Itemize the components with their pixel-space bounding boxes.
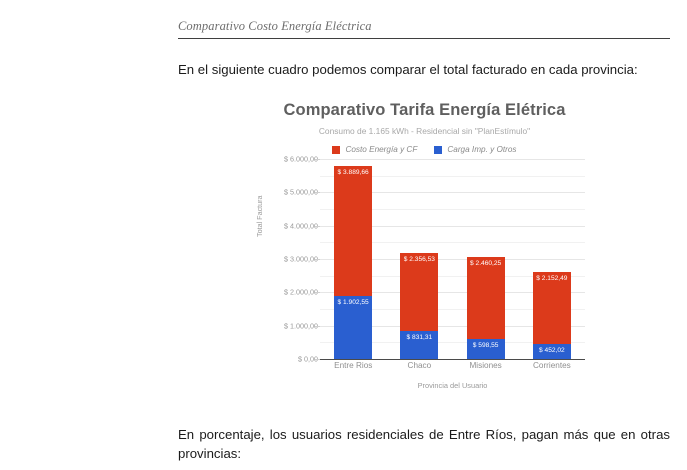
bar-group: $ 2.460,25$ 598,55 bbox=[467, 159, 505, 359]
bar-segment-carga: $ 598,55 bbox=[467, 339, 505, 359]
y-axis-tick-label: $ 2.000,00 bbox=[284, 288, 318, 297]
bar-value-label: $ 1.902,55 bbox=[334, 299, 372, 306]
legend-label-carga: Carga Imp. y Otros bbox=[447, 145, 516, 154]
x-axis-ticks: Entre RiosChacoMisionesCorrientes bbox=[320, 361, 585, 370]
bar-segment-costo: $ 3.889,66 bbox=[334, 166, 372, 296]
x-axis-title: Provincia del Usuario bbox=[320, 381, 585, 390]
chart-title: Comparativo Tarifa Energía Elétrica bbox=[252, 101, 597, 120]
page-left-margin bbox=[0, 0, 81, 470]
paragraph-intro: En el siguiente cuadro podemos comparar … bbox=[178, 60, 670, 79]
y-axis-tick-label: $ 5.000,00 bbox=[284, 188, 318, 197]
bar-segment-costo: $ 2.152,49 bbox=[533, 272, 571, 344]
y-axis-tick-mark bbox=[315, 359, 320, 360]
bar-value-label: $ 2.152,49 bbox=[533, 275, 571, 282]
bar-value-label: $ 2.460,25 bbox=[467, 260, 505, 267]
x-axis-tick-label: Chaco bbox=[400, 361, 438, 370]
legend-label-costo: Costo Energía y CF bbox=[345, 145, 417, 154]
running-head: Comparativo Costo Energía Eléctrica bbox=[178, 19, 670, 39]
plot-canvas: $ 3.889,66$ 1.902,55$ 2.356,53$ 831,31$ … bbox=[320, 159, 585, 359]
y-axis-tick-label: $ 4.000,00 bbox=[284, 221, 318, 230]
paragraph-conclusion: En porcentaje, los usuarios residenciale… bbox=[178, 425, 670, 463]
bar-value-label: $ 831,31 bbox=[400, 334, 438, 341]
bar-segment-costo: $ 2.356,53 bbox=[400, 253, 438, 332]
x-axis-tick-label: Misiones bbox=[467, 361, 505, 370]
y-axis-tick-label: $ 6.000,00 bbox=[284, 155, 318, 164]
bar-segment-carga: $ 1.902,55 bbox=[334, 296, 372, 359]
header-rule bbox=[178, 38, 670, 39]
bar-group: $ 2.152,49$ 452,02 bbox=[533, 159, 571, 359]
bar-segment-costo: $ 2.460,25 bbox=[467, 257, 505, 339]
bar-group: $ 2.356,53$ 831,31 bbox=[400, 159, 438, 359]
legend-swatch-costo bbox=[332, 146, 340, 154]
gridline bbox=[320, 359, 585, 360]
y-axis-tick-label: $ 1.000,00 bbox=[284, 321, 318, 330]
bar-value-label: $ 452,02 bbox=[533, 347, 571, 354]
bar-group: $ 3.889,66$ 1.902,55 bbox=[334, 159, 372, 359]
running-head-text: Comparativo Costo Energía Eléctrica bbox=[178, 19, 670, 34]
bar-segment-carga: $ 831,31 bbox=[400, 331, 438, 359]
bar-series-container: $ 3.889,66$ 1.902,55$ 2.356,53$ 831,31$ … bbox=[320, 159, 585, 359]
x-axis-tick-label: Corrientes bbox=[533, 361, 571, 370]
y-axis-ticks: $ 0,00$ 1.000,00$ 2.000,00$ 3.000,00$ 4.… bbox=[266, 159, 320, 359]
legend-item-costo: Costo Energía y CF bbox=[332, 145, 417, 154]
chart-legend: Costo Energía y CF Carga Imp. y Otros bbox=[252, 145, 597, 154]
bar-segment-carga: $ 452,02 bbox=[533, 344, 571, 359]
bar-value-label: $ 2.356,53 bbox=[400, 256, 438, 263]
y-axis-tick-label: $ 3.000,00 bbox=[284, 255, 318, 264]
legend-item-carga: Carga Imp. y Otros bbox=[434, 145, 516, 154]
bar-chart: Comparativo Tarifa Energía Elétrica Cons… bbox=[252, 96, 597, 408]
document-page: Comparativo Costo Energía Eléctrica En e… bbox=[81, 0, 606, 470]
plot-area: Total Factura $ 0,00$ 1.000,00$ 2.000,00… bbox=[252, 159, 597, 394]
bar-value-label: $ 598,55 bbox=[467, 342, 505, 349]
x-axis-tick-label: Entre Rios bbox=[334, 361, 372, 370]
y-axis-title: Total Factura bbox=[255, 195, 264, 237]
legend-swatch-carga bbox=[434, 146, 442, 154]
bar-value-label: $ 3.889,66 bbox=[334, 169, 372, 176]
chart-subtitle: Consumo de 1.165 kWh - Residencial sin "… bbox=[252, 126, 597, 136]
